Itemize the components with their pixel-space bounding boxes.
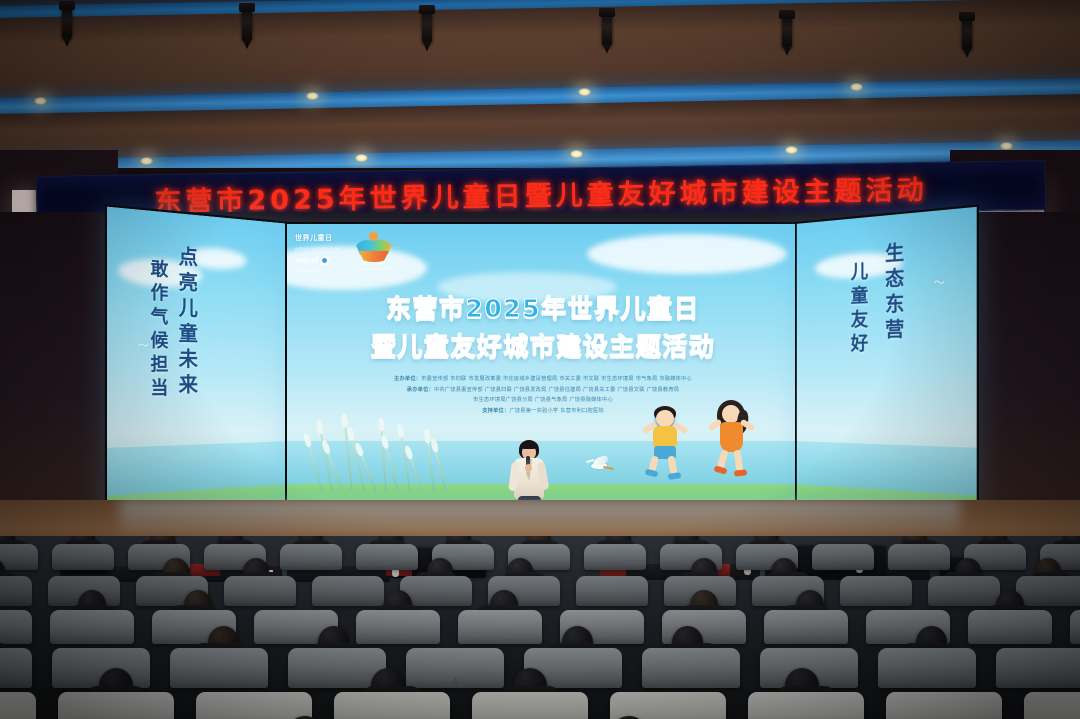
auditorium-seat[interactable] bbox=[840, 576, 912, 606]
left-calligraphy-column-1: 点亮儿童未来 bbox=[173, 245, 200, 399]
unicef-logo-sub: for every child bbox=[295, 269, 342, 273]
auditorium-seat[interactable] bbox=[0, 648, 32, 688]
ceiling-spotlight bbox=[242, 8, 252, 42]
auditorium-seat[interactable] bbox=[812, 544, 874, 570]
organizer-value: 市委宣传部 市妇联 市发展改革委 市住房城乡建设管理局 市关工委 市文联 市生态… bbox=[421, 376, 692, 382]
ceiling-downlight bbox=[785, 146, 798, 154]
auditorium-seat[interactable] bbox=[886, 692, 1002, 719]
auditorium-seat[interactable] bbox=[968, 610, 1052, 644]
ceiling-spotlight bbox=[962, 17, 972, 51]
organizer-label: 承办单位： bbox=[407, 387, 434, 393]
ceiling bbox=[0, 0, 1080, 168]
auditorium-seat[interactable] bbox=[0, 610, 32, 644]
auditorium-seat[interactable] bbox=[472, 692, 588, 719]
ceiling-downlight bbox=[570, 150, 583, 158]
auditorium-seat[interactable] bbox=[0, 576, 32, 606]
auditorium-seat[interactable] bbox=[356, 544, 418, 570]
organizer-label: 支持单位： bbox=[482, 408, 509, 414]
right-calligraphy-column-1: 生态东营 bbox=[880, 241, 907, 344]
auditorium-seat[interactable] bbox=[576, 576, 648, 606]
organizer-value: 中共广饶县委宣传部 广饶县妇联 广饶县发改局 广饶县住建局 广饶县关工委 广饶县… bbox=[434, 387, 679, 393]
screen-title-block: 东营市2025年世界儿童日 暨儿童友好城市建设主题活动 bbox=[287, 290, 799, 365]
auditorium-seat[interactable] bbox=[224, 576, 296, 606]
child-friendly-city-logo: 儿童友好城市 CHILD FRIENDLY CITY bbox=[354, 231, 394, 275]
logo-wave-shape bbox=[359, 251, 389, 262]
unicef-globe-icon bbox=[320, 256, 329, 265]
crane-illustration bbox=[587, 456, 613, 474]
auditorium-seat[interactable] bbox=[50, 610, 134, 644]
auditorium-seat[interactable] bbox=[878, 648, 976, 688]
screen-title-line-1: 东营市2025年世界儿童日 bbox=[287, 290, 799, 328]
cartoon-boy bbox=[642, 406, 698, 480]
ceiling-spotlight bbox=[422, 10, 432, 44]
right-calligraphy-column-2: 儿童友好 bbox=[845, 261, 870, 358]
wcd-logo-sub: WORLD CHILDREN'S DAY bbox=[295, 247, 342, 251]
auditorium-seat[interactable] bbox=[280, 544, 342, 570]
logo-head-shape bbox=[369, 232, 378, 241]
organizer-value: 市生态环境局广饶县分局 广饶县气象局 广饶县融媒体中心 bbox=[473, 397, 613, 403]
auditorium-seat[interactable] bbox=[610, 692, 726, 719]
presenter-fringe bbox=[520, 442, 538, 449]
auditorium-seat[interactable] bbox=[764, 610, 848, 644]
ceiling-downlight bbox=[355, 154, 368, 162]
organizer-label: 主办单位： bbox=[394, 376, 421, 382]
bird-icon: 〜 bbox=[933, 277, 945, 290]
auditorium-seat[interactable]: 9 bbox=[58, 692, 174, 719]
auditorium-seat[interactable] bbox=[1016, 576, 1080, 606]
paper-cup bbox=[392, 570, 399, 577]
auditorium-seat[interactable] bbox=[0, 692, 36, 719]
unicef-logo-text: unicef bbox=[295, 255, 318, 265]
auditorium-seat[interactable] bbox=[458, 610, 542, 644]
auditorium-scene: 东营市2025年世界儿童日暨儿童友好城市建设主题活动 〜 点亮儿童未来 敢作气候… bbox=[0, 0, 1080, 719]
world-childrens-day-logo: 世界儿童日 WORLD CHILDREN'S DAY unicef for ev… bbox=[295, 233, 342, 273]
city-logo-caption: 儿童友好城市 CHILD FRIENDLY CITY bbox=[354, 262, 394, 272]
ceiling-downlight bbox=[578, 88, 591, 96]
city-logo-line2: CHILD FRIENDLY CITY bbox=[354, 267, 394, 272]
auditorium-seat[interactable] bbox=[334, 692, 450, 719]
unicef-logo: unicef bbox=[295, 255, 342, 265]
auditorium-seat[interactable] bbox=[196, 692, 312, 719]
left-calligraphy-column-2: 敢作气候担当 bbox=[144, 258, 170, 402]
auditorium-seat[interactable] bbox=[0, 544, 38, 570]
stage-floor-reflection bbox=[120, 500, 960, 540]
ceiling-spotlight bbox=[602, 13, 612, 47]
auditorium-seat[interactable] bbox=[748, 692, 864, 719]
ceiling-spotlight bbox=[62, 6, 72, 40]
auditorium-seat[interactable] bbox=[584, 544, 646, 570]
organizer-value: 广饶县第一实验小学 东营市利口腔医院 bbox=[509, 408, 603, 414]
seat-number: 4 bbox=[406, 676, 504, 686]
auditorium-seat[interactable] bbox=[1070, 610, 1080, 644]
cartoon-girl bbox=[707, 400, 765, 480]
ceiling-downlight bbox=[850, 83, 863, 91]
auditorium-seat[interactable] bbox=[52, 544, 114, 570]
led-banner-text: 东营市2025年世界儿童日暨儿童友好城市建设主题活动 bbox=[154, 167, 928, 218]
auditorium-seat[interactable] bbox=[356, 610, 440, 644]
cloud bbox=[587, 234, 787, 274]
auditorium-seat[interactable] bbox=[1024, 692, 1080, 719]
auditorium-seat[interactable] bbox=[312, 576, 384, 606]
auditorium-seat[interactable] bbox=[170, 648, 268, 688]
screen-title-line-2: 暨儿童友好城市建设主题活动 bbox=[287, 328, 799, 366]
auditorium-seat[interactable] bbox=[888, 544, 950, 570]
organizer-line: 主办单位：市委宣传部 市妇联 市发展改革委 市住房城乡建设管理局 市关工委 市文… bbox=[287, 374, 799, 385]
presenter-hand bbox=[525, 464, 532, 472]
organizer-line: 承办单位：中共广饶县委宣传部 广饶县妇联 广饶县发改局 广饶县住建局 广饶县关工… bbox=[287, 385, 799, 396]
auditorium-seat[interactable] bbox=[928, 576, 1000, 606]
ceiling-downlight bbox=[1000, 142, 1013, 150]
auditorium-seat[interactable] bbox=[996, 648, 1080, 688]
ceiling-spotlight bbox=[782, 15, 792, 49]
audience-area: 2479 bbox=[0, 536, 1080, 719]
screen-logo-group: 世界儿童日 WORLD CHILDREN'S DAY unicef for ev… bbox=[295, 231, 394, 275]
auditorium-seat[interactable] bbox=[642, 648, 740, 688]
wcd-logo-cn: 世界儿童日 bbox=[295, 233, 342, 243]
auditorium-seat[interactable]: 4 bbox=[406, 648, 504, 688]
